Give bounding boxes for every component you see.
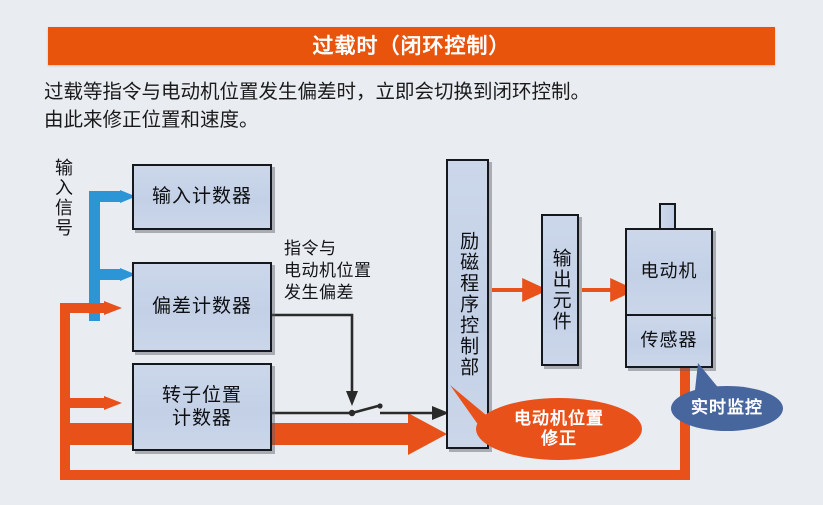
block-output-element-label: 输出元件 xyxy=(548,248,571,332)
block-input-counter[interactable]: 输入计数器 xyxy=(132,164,272,230)
block-diagram: 输入信号 输入计数器 偏差计数器 转子位置 计数器 励磁程序控制部 输出元件 电… xyxy=(0,145,823,505)
page-title: 过载时（闭环控制） xyxy=(313,36,511,57)
deviation-to-excitation-black-line xyxy=(272,315,449,420)
description-line-2: 由此来修正位置和速度。 xyxy=(44,106,804,134)
rotor-label-line-1: 转子位置 xyxy=(162,384,242,407)
block-motor[interactable]: 电动机 xyxy=(625,228,713,316)
deviation-annotation: 指令与 电动机位置 发生偏差 xyxy=(284,238,372,304)
deviation-annotation-line-2: 电动机位置 xyxy=(284,260,372,282)
block-sensor[interactable]: 传感器 xyxy=(625,314,713,368)
input-signal-label: 输入信号 xyxy=(48,158,74,238)
block-input-counter-label: 输入计数器 xyxy=(152,185,252,208)
callout-realtime-monitor-label: 实时监控 xyxy=(691,398,763,418)
rotor-label-line-2: 计数器 xyxy=(162,407,242,430)
deviation-annotation-line-3: 发生偏差 xyxy=(284,282,372,304)
block-deviation-counter[interactable]: 偏差计数器 xyxy=(132,262,272,352)
description-text: 过载等指令与电动机位置发生偏差时，立即会切换到闭环控制。 由此来修正位置和速度。 xyxy=(44,78,804,133)
title-banner: 过载时（闭环控制） xyxy=(48,27,775,65)
motor-shaft-icon xyxy=(659,203,676,230)
callout-realtime-monitor: 实时监控 xyxy=(671,386,783,431)
callout-motor-correction-line-1: 电动机位置 xyxy=(514,409,604,429)
block-rotor-position-counter[interactable]: 转子位置 计数器 xyxy=(132,363,272,451)
block-excitation-program-control-label: 励磁程序控制部 xyxy=(456,231,479,378)
input-signal-arrows xyxy=(89,190,136,321)
poster-root: 过载时（闭环控制） 过载等指令与电动机位置发生偏差时，立即会切换到闭环控制。 由… xyxy=(0,0,823,505)
motor-assembly: 电动机 传感器 xyxy=(625,228,713,368)
callout-motor-correction-line-2: 修正 xyxy=(514,429,604,449)
block-rotor-position-counter-label: 转子位置 计数器 xyxy=(162,384,242,430)
block-sensor-label: 传感器 xyxy=(641,330,698,352)
callout-motor-position-correction: 电动机位置 修正 xyxy=(476,398,642,460)
deviation-annotation-line-1: 指令与 xyxy=(284,238,372,260)
block-output-element[interactable]: 输出元件 xyxy=(541,214,579,366)
block-motor-label: 电动机 xyxy=(641,261,698,283)
description-line-1: 过载等指令与电动机位置发生偏差时，立即会切换到闭环控制。 xyxy=(44,78,804,106)
block-deviation-counter-label: 偏差计数器 xyxy=(152,295,252,318)
